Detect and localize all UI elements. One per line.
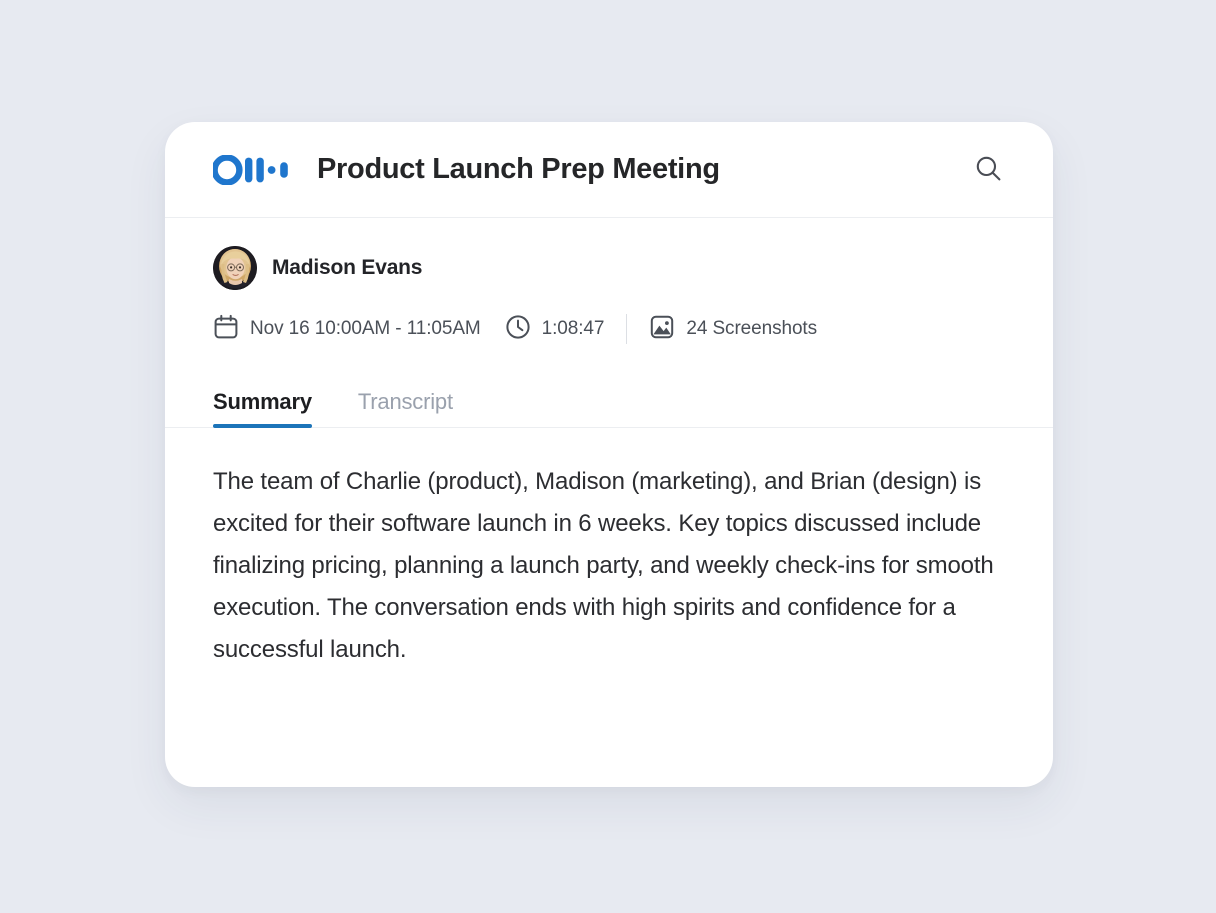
meeting-screenshots[interactable]: 24 Screenshots xyxy=(649,314,817,345)
meta-divider xyxy=(626,314,627,344)
meeting-meta: Nov 16 10:00AM - 11:05AM 1:08:47 xyxy=(213,312,1005,346)
card-header: Product Launch Prep Meeting xyxy=(165,122,1053,218)
meeting-owner: Madison Evans xyxy=(213,246,1005,290)
clock-icon xyxy=(505,314,531,345)
search-button[interactable] xyxy=(969,151,1007,189)
meeting-date: Nov 16 10:00AM - 11:05AM xyxy=(213,314,481,345)
meeting-card: Product Launch Prep Meeting xyxy=(165,122,1053,787)
meeting-duration-label: 1:08:47 xyxy=(542,318,605,340)
meeting-screenshots-label: 24 Screenshots xyxy=(686,318,817,340)
search-icon xyxy=(974,154,1003,186)
image-icon xyxy=(649,314,675,345)
tab-summary[interactable]: Summary xyxy=(213,389,312,428)
page-root: Product Launch Prep Meeting xyxy=(0,0,1216,913)
card-body: Madison Evans Nov 16 10:00AM - 11:05AM xyxy=(165,218,1053,671)
tab-bar: Summary Transcript xyxy=(213,376,1005,428)
meeting-date-label: Nov 16 10:00AM - 11:05AM xyxy=(250,318,481,340)
page-title: Product Launch Prep Meeting xyxy=(317,153,969,186)
otter-logo[interactable] xyxy=(213,155,291,185)
owner-name: Madison Evans xyxy=(272,256,422,280)
calendar-icon xyxy=(213,314,239,345)
tab-transcript[interactable]: Transcript xyxy=(358,389,453,428)
avatar xyxy=(213,246,257,290)
meeting-duration: 1:08:47 xyxy=(505,314,605,345)
summary-body: The team of Charlie (product), Madison (… xyxy=(213,461,1003,671)
